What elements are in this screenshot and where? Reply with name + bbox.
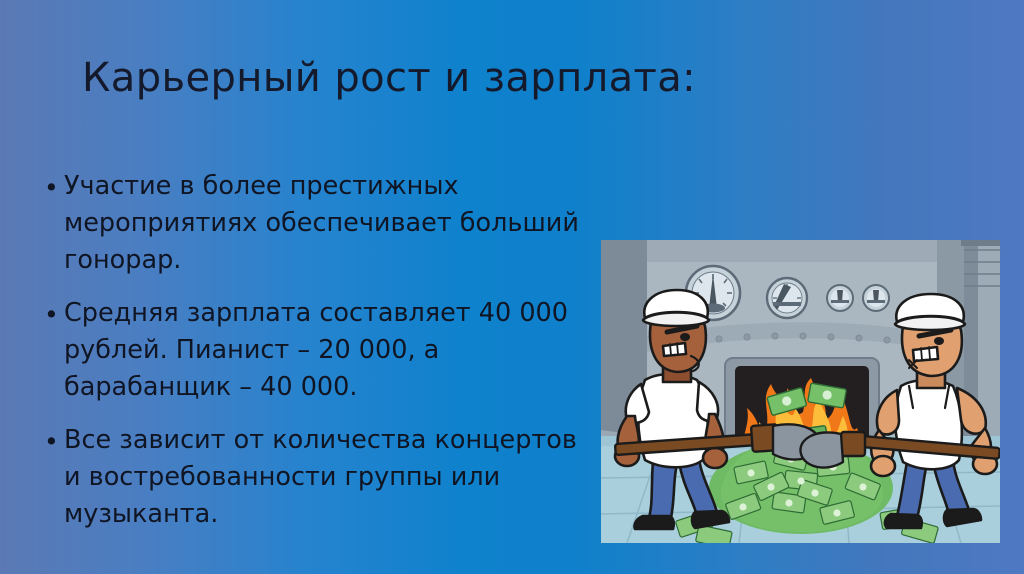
gauge-small-icon bbox=[863, 285, 889, 311]
list-item-text: Средняя зарплата составляет 40 000 рубле… bbox=[64, 295, 596, 406]
illustration-sailors-burning-money bbox=[601, 240, 1000, 543]
list-item-text: Все зависит от количества концертов и во… bbox=[64, 422, 596, 533]
bullet-dot-icon: • bbox=[44, 423, 64, 460]
page-title: Карьерный рост и зарплата: bbox=[82, 55, 942, 101]
list-item: • Участие в более престижных мероприятия… bbox=[44, 168, 596, 279]
bullet-dot-icon: • bbox=[44, 169, 64, 206]
list-item-text: Участие в более престижных мероприятиях … bbox=[64, 168, 596, 279]
bullet-dot-icon: • bbox=[44, 296, 64, 333]
list-item: • Средняя зарплата составляет 40 000 руб… bbox=[44, 295, 596, 406]
gauge-medium-icon bbox=[767, 278, 807, 318]
slide-canvas: Карьерный рост и зарплата: • Участие в б… bbox=[0, 0, 1024, 574]
list-item: • Все зависит от количества концертов и … bbox=[44, 422, 596, 533]
bullet-list: • Участие в более престижных мероприятия… bbox=[44, 168, 596, 549]
gauge-small-icon bbox=[827, 285, 853, 311]
